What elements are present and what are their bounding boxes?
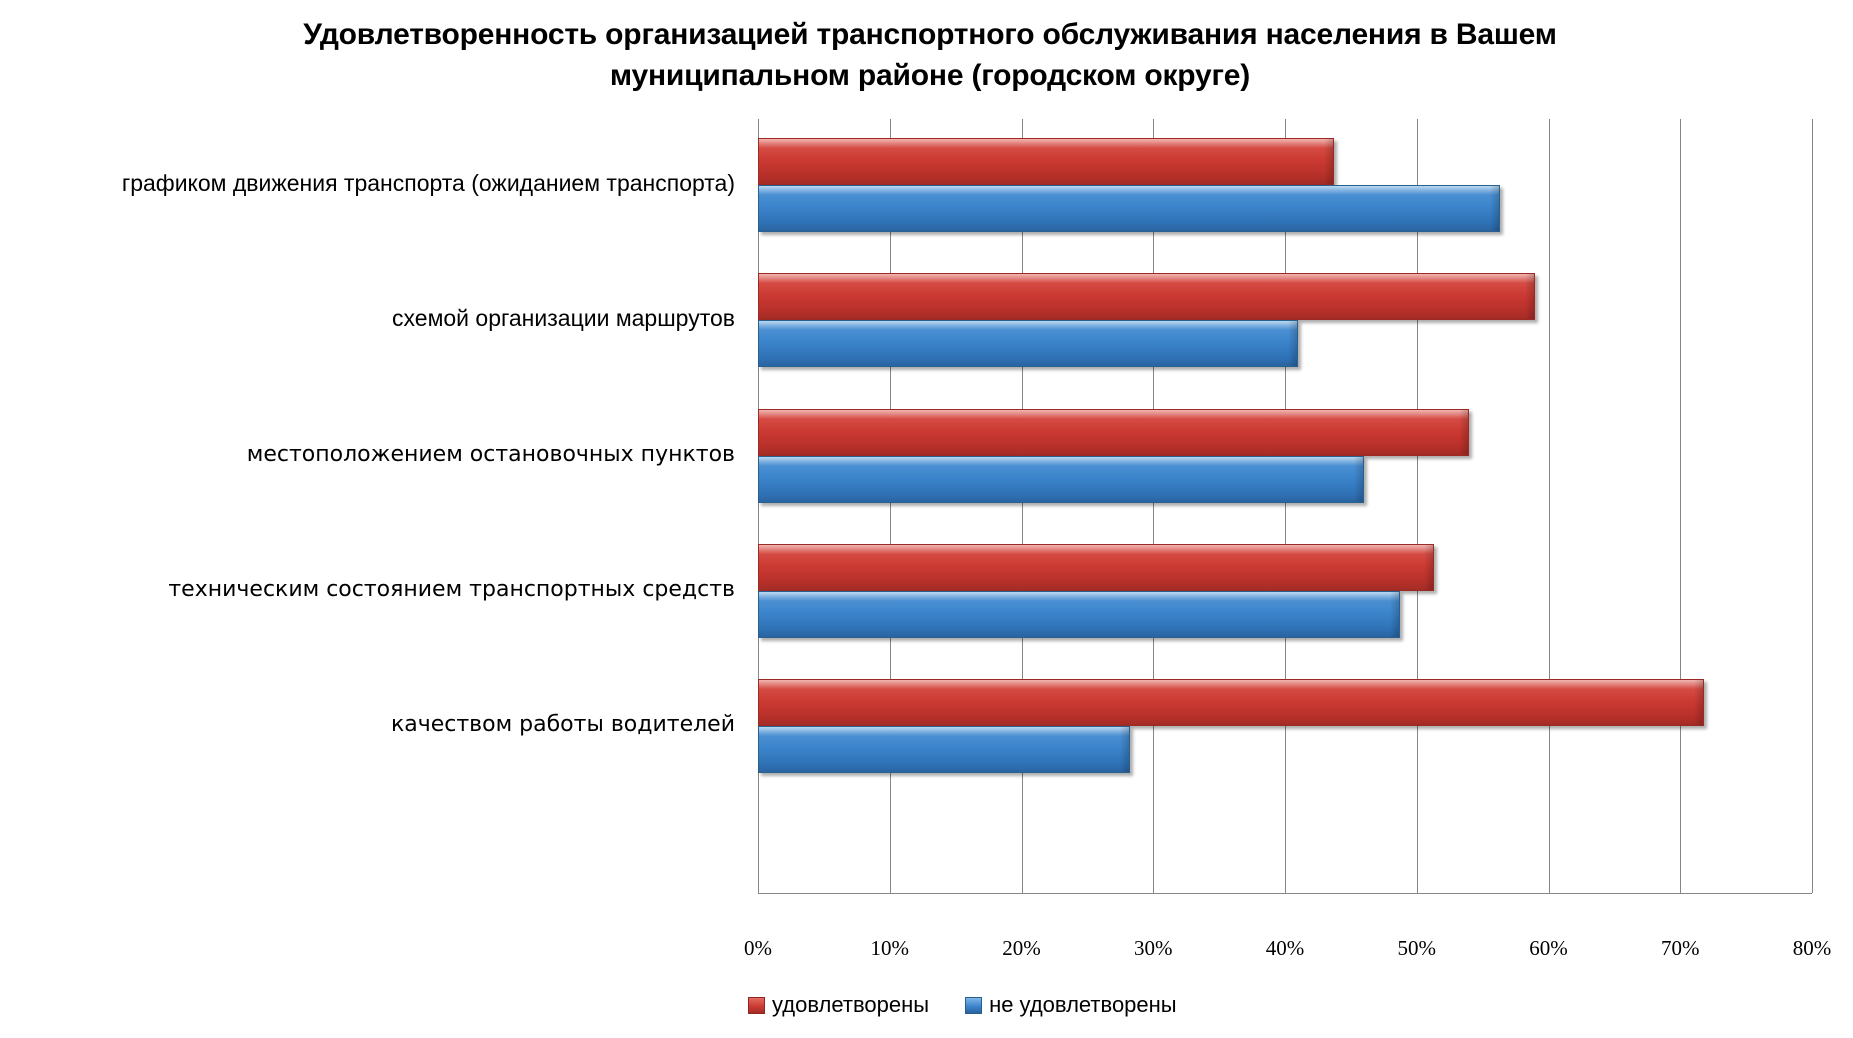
xtick-label-2: 20% xyxy=(982,936,1062,961)
bar-satisfied-1[interactable] xyxy=(758,273,1535,320)
xtick-label-6: 60% xyxy=(1509,936,1589,961)
category-label-4: качеством работы водителей xyxy=(391,712,735,737)
red-swatch-icon xyxy=(748,997,765,1014)
chart-title: Удовлетворенность организацией транспорт… xyxy=(150,14,1710,96)
xtick-label-7: 70% xyxy=(1640,936,1720,961)
bar-satisfied-3[interactable] xyxy=(758,544,1434,591)
bar-unsatisfied-3[interactable] xyxy=(758,591,1400,638)
gridline-70 xyxy=(1680,119,1681,893)
bar-unsatisfied-4[interactable] xyxy=(758,726,1130,773)
bar-unsatisfied-1[interactable] xyxy=(758,320,1298,367)
y-axis-line xyxy=(758,119,759,893)
bar-chart: Удовлетворенность организацией транспорт… xyxy=(0,0,1853,1038)
legend-item-unsatisfied[interactable]: не удовлетворены xyxy=(965,992,1177,1018)
bar-satisfied-0[interactable] xyxy=(758,138,1334,185)
bar-satisfied-2[interactable] xyxy=(758,409,1469,456)
plot-area xyxy=(758,119,1812,893)
gridline-50 xyxy=(1417,119,1418,893)
gridline-20 xyxy=(1022,119,1023,893)
category-label-1: схемой организации маршрутов xyxy=(392,305,735,332)
gridline-60 xyxy=(1549,119,1550,893)
gridline-40 xyxy=(1285,119,1286,893)
bar-satisfied-4[interactable] xyxy=(758,679,1704,726)
chart-title-line-2: муниципальном районе (городском округе) xyxy=(150,55,1710,96)
bar-unsatisfied-2[interactable] xyxy=(758,456,1364,503)
x-axis-line xyxy=(758,893,1812,894)
gridline-80 xyxy=(1812,119,1813,893)
xtick-label-3: 30% xyxy=(1113,936,1193,961)
category-label-0: графиком движения транспорта (ожиданием … xyxy=(122,170,735,197)
blue-swatch-icon xyxy=(965,997,982,1014)
xtick-label-4: 40% xyxy=(1245,936,1325,961)
legend-item-satisfied[interactable]: удовлетворены xyxy=(748,992,929,1018)
legend-label-unsatisfied: не удовлетворены xyxy=(989,992,1177,1018)
xtick-label-5: 50% xyxy=(1377,936,1457,961)
category-label-2: местоположением остановочных пунктов xyxy=(247,442,735,467)
category-label-3: техническим состоянием транспортных сред… xyxy=(168,577,735,602)
gridline-10 xyxy=(890,119,891,893)
legend-label-satisfied: удовлетворены xyxy=(772,992,929,1018)
bar-unsatisfied-0[interactable] xyxy=(758,185,1500,232)
gridline-30 xyxy=(1153,119,1154,893)
chart-legend: удовлетворены не удовлетворены xyxy=(748,992,1177,1018)
xtick-label-8: 80% xyxy=(1772,936,1852,961)
xtick-label-0: 0% xyxy=(718,936,798,961)
chart-title-line-1: Удовлетворенность организацией транспорт… xyxy=(150,14,1710,55)
xtick-label-1: 10% xyxy=(850,936,930,961)
